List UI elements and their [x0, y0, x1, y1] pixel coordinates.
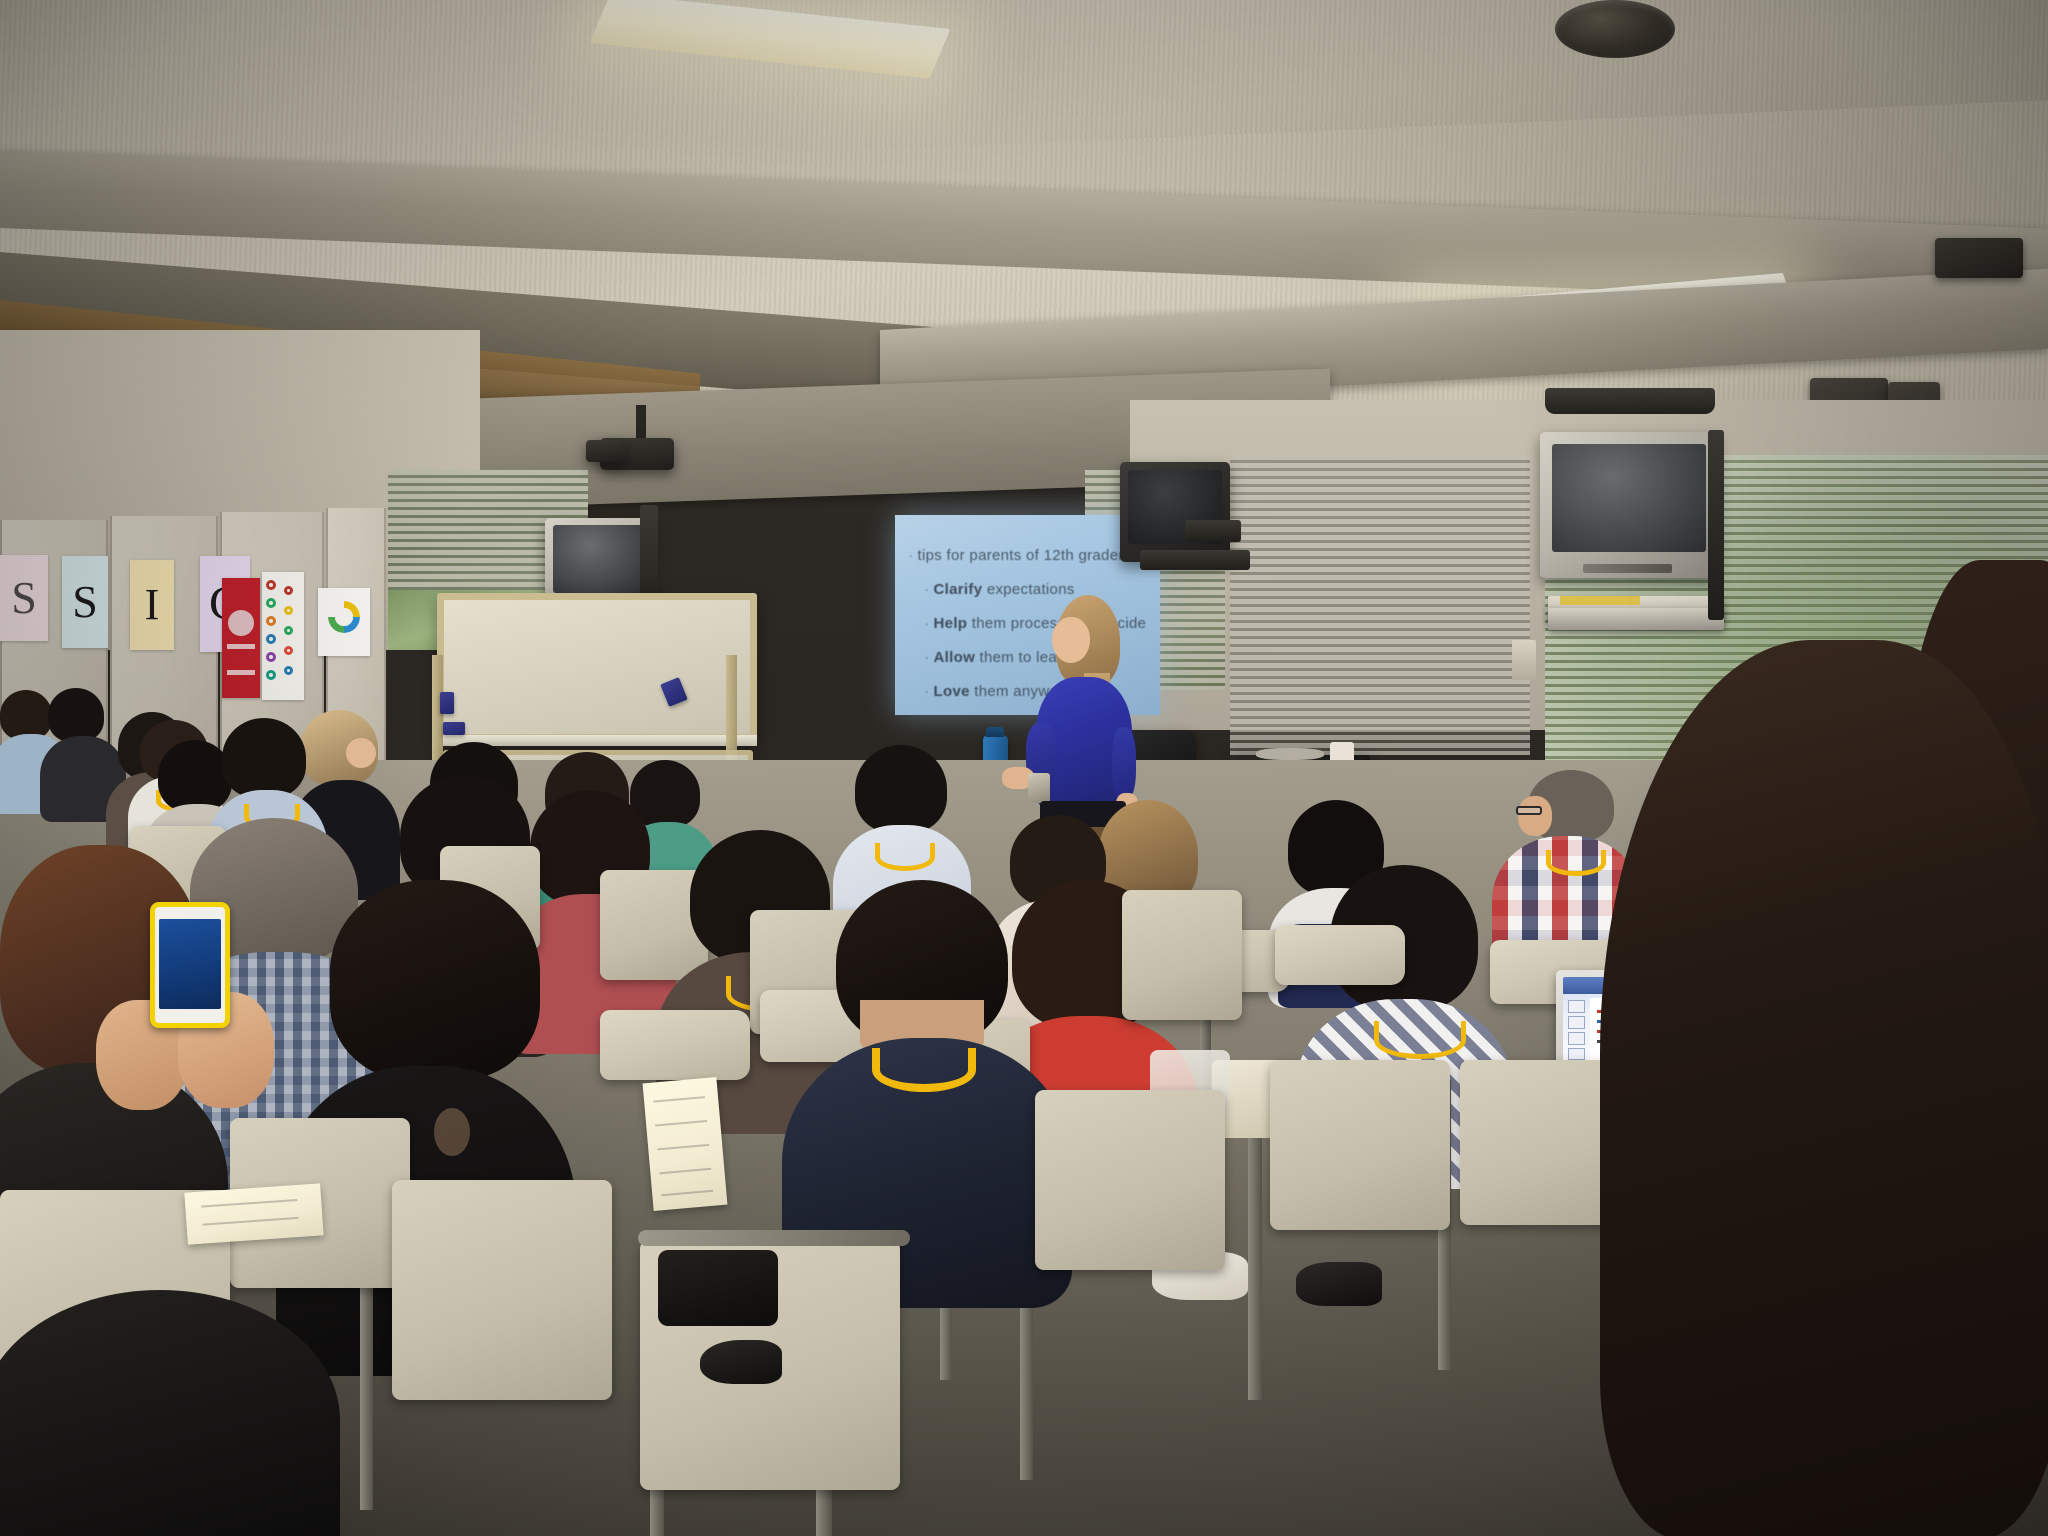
classroom-chair-back[interactable]	[1122, 890, 1242, 1020]
poster-letter-text-2: I	[145, 583, 160, 627]
label-sticker	[1560, 596, 1640, 605]
red-safety-poster	[222, 578, 260, 698]
poster-letter-0: S	[0, 555, 48, 641]
bottle-cap	[986, 727, 1004, 737]
rack-top-item	[1256, 748, 1324, 760]
face	[1518, 796, 1552, 836]
wall-outlet	[1512, 640, 1536, 680]
chair-leg	[1248, 1100, 1262, 1400]
smartphone[interactable]	[150, 902, 230, 1028]
classroom-seminar-photo: S S I C ·tips for parents of 12t	[0, 0, 2048, 1536]
presentation-remote[interactable]	[1028, 773, 1050, 803]
poster-line	[227, 670, 255, 675]
shoe	[700, 1340, 782, 1384]
lanyard	[872, 1048, 976, 1092]
color-chart-poster	[262, 572, 304, 700]
dvd-player[interactable]	[1548, 608, 1724, 630]
tv-shelf	[1185, 520, 1241, 542]
poster-letter-1: S	[62, 556, 108, 648]
venetian-blinds-back	[1230, 455, 1530, 755]
wall-tv-right[interactable]	[1540, 432, 1718, 578]
whiteboard[interactable]	[437, 593, 757, 741]
donut-chart-icon	[328, 601, 360, 633]
presenter-face	[1052, 617, 1090, 663]
projector-mount	[636, 405, 646, 441]
phone-screen	[159, 919, 221, 1009]
classroom-chair-back[interactable]	[392, 1180, 612, 1400]
wall-tv-center	[1120, 462, 1230, 562]
printed-handout[interactable]	[643, 1077, 728, 1211]
slide-line-0: ·tips for parents of 12th graders	[908, 547, 1152, 564]
neckline-cutout	[434, 1108, 470, 1156]
classroom-chair-back[interactable]	[1270, 1060, 1450, 1230]
tv-shelf	[1140, 550, 1250, 570]
tv-control-strip	[1583, 564, 1672, 573]
shoe	[1296, 1262, 1382, 1306]
printed-handout[interactable]	[184, 1183, 323, 1244]
slide-line-1: ·Clarify expectations	[908, 581, 1152, 598]
whiteboard-eraser[interactable]	[440, 692, 454, 714]
tv-top-bracket	[1545, 388, 1715, 414]
hair	[1600, 640, 2048, 1536]
whiteboard-marker[interactable]	[443, 722, 465, 735]
glasses-icon	[1516, 806, 1542, 815]
tv-mount-arm	[1708, 430, 1724, 620]
presenter-arm-right	[1112, 727, 1136, 801]
circle-diagram-poster	[318, 588, 370, 656]
handbag	[658, 1250, 778, 1326]
tablet-arm-desk	[1275, 925, 1405, 985]
poster-letter-text-1: S	[72, 579, 98, 625]
tablet-arm-desk	[600, 1010, 750, 1080]
chair-frame	[638, 1230, 910, 1246]
face	[346, 738, 376, 768]
poster-bulb-icon	[228, 610, 254, 636]
cable-tray-icon	[1935, 238, 2023, 278]
poster-letter-text-0: S	[11, 575, 37, 621]
hair	[330, 880, 540, 1080]
projector-body	[586, 440, 626, 462]
tv-screen	[553, 525, 646, 593]
poster-line	[227, 644, 255, 649]
ceiling-speaker-icon	[1555, 0, 1675, 58]
classroom-chair-back[interactable]	[1035, 1090, 1225, 1270]
tv-screen	[1552, 444, 1705, 552]
poster-letter-2: I	[130, 560, 174, 650]
